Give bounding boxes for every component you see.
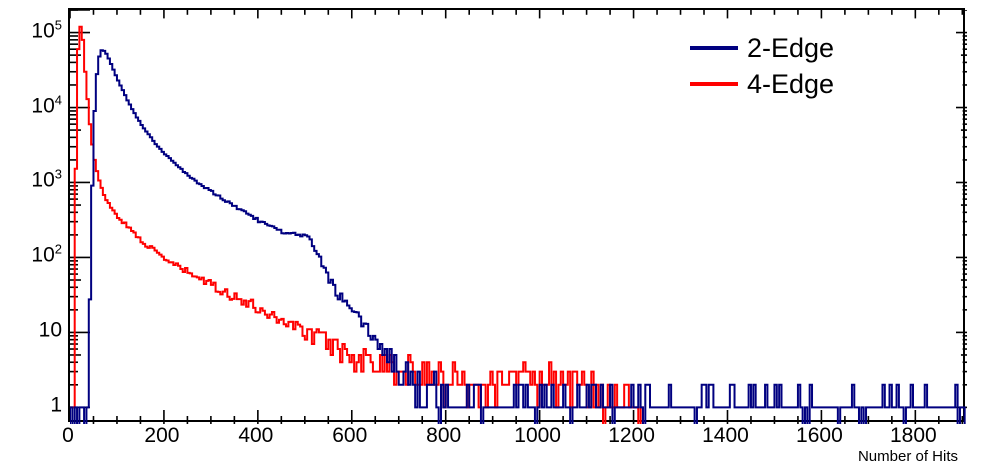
legend-label: 4-Edge	[747, 69, 834, 99]
legend-swatch-line	[690, 82, 738, 86]
x-tick-label: 1400	[702, 424, 749, 448]
y-tick-label: 105	[31, 20, 62, 41]
x-tick-label: 1000	[514, 424, 561, 448]
legend-entry-4-edge: 4-Edge	[690, 66, 920, 102]
x-axis-title: Number of Hits	[0, 448, 958, 466]
series-line-4-edge	[70, 27, 643, 424]
x-tick-label: 600	[332, 424, 367, 448]
x-tick-label: 0	[62, 424, 74, 448]
x-tick-label: 1200	[608, 424, 655, 448]
legend-entry-2-edge: 2-Edge	[690, 30, 920, 66]
y-tick-label: 104	[31, 95, 62, 116]
chart-legend: 2-Edge 4-Edge	[690, 30, 920, 102]
y-tick-label: 10	[39, 320, 62, 341]
series-line-2-edge	[70, 50, 965, 424]
y-axis-labels: 105104103102101	[0, 0, 62, 472]
x-tick-label: 1800	[890, 424, 937, 448]
x-tick-label: 400	[238, 424, 273, 448]
x-tick-label: 200	[144, 424, 179, 448]
chart-canvas: 105104103102101 020040060080010001200140…	[0, 0, 996, 472]
x-tick-label: 800	[426, 424, 461, 448]
y-tick-label: 102	[31, 245, 62, 266]
legend-swatch-line	[690, 46, 738, 50]
y-tick-label: 103	[31, 170, 62, 191]
x-tick-label: 1600	[796, 424, 843, 448]
legend-label: 2-Edge	[747, 33, 834, 63]
y-tick-label: 1	[50, 395, 62, 416]
